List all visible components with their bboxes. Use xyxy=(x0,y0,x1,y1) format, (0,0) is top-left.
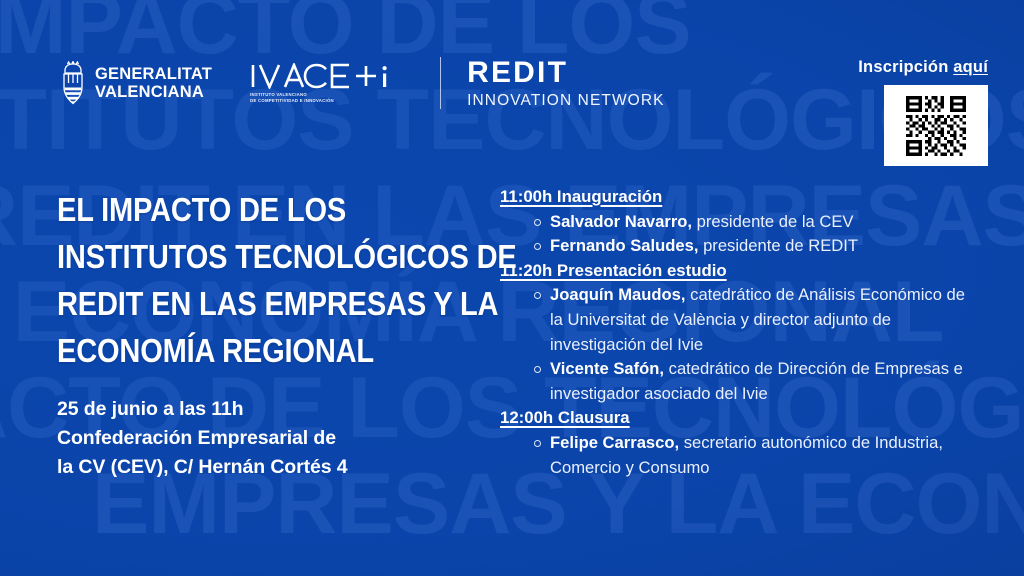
speaker-name: Fernando Saludes, xyxy=(550,236,698,255)
registration-block: Inscripción aquí xyxy=(858,58,988,166)
speaker-name: Salvador Navarro, xyxy=(550,212,692,231)
generalitat-valenciana-wordmark: GENERALITAT VALENCIANA xyxy=(95,65,212,102)
programme-speaker-item: Felipe Carrasco, secretario autonómico d… xyxy=(550,431,970,480)
inscription-label: Inscripción aquí xyxy=(858,58,988,77)
page-title-line-2: INSTITUTOS TECNOLÓGICOS DE xyxy=(57,233,409,280)
bullet-circle-icon xyxy=(534,366,541,373)
programme-speaker-item: Joaquín Maudos, catedrático de Análisis … xyxy=(550,283,970,357)
programme-speaker-item: Vicente Safón, catedrático de Dirección … xyxy=(550,357,970,406)
generalitat-line-2: VALENCIANA xyxy=(95,83,212,102)
page-title-line-3: REDIT EN LAS EMPRESAS Y LA xyxy=(57,280,409,327)
speaker-role: presidente de la CEV xyxy=(692,212,853,231)
programme-session-heading: 11:20h Presentación estudio xyxy=(500,259,970,284)
page-title-line-4: ECONOMÍA REGIONAL xyxy=(57,327,409,374)
page-title-line-1: EL IMPACTO DE LOS xyxy=(57,186,409,233)
ivace-subtitle-line-2: DE COMPETITIVIDAD E INNOVACIÓN xyxy=(250,98,400,103)
programme-session-heading: 11:00h Inauguración xyxy=(500,185,970,210)
ivace-subtitle: INSTITUTO VALENCIANO DE COMPETITIVIDAD E… xyxy=(250,92,400,103)
programme-speaker-list: Felipe Carrasco, secretario autonómico d… xyxy=(500,431,970,480)
redit-wordmark: REDIT xyxy=(467,57,664,88)
programme-session-heading: 12:00h Clausura xyxy=(500,406,970,431)
inscription-link[interactable]: aquí xyxy=(953,58,988,76)
registration-qr-code[interactable] xyxy=(884,85,988,166)
event-details-line-1: 25 de junio a las 11h xyxy=(57,395,457,424)
programme-speaker-list: Salvador Navarro, presidente de la CEVFe… xyxy=(500,210,970,259)
redit-logo: REDIT INNOVATION NETWORK xyxy=(467,57,664,109)
ivace-wordmark-icon xyxy=(250,63,400,89)
event-details-line-2: Confederación Empresarial de xyxy=(57,424,457,453)
bullet-circle-icon xyxy=(534,219,541,226)
page-title: EL IMPACTO DE LOSINSTITUTOS TECNOLÓGICOS… xyxy=(57,186,409,374)
event-details: 25 de junio a las 11hConfederación Empre… xyxy=(57,395,457,482)
event-poster: IMPACTO DE LOSSTITUTOS TECNOLÓGICOSREDIT… xyxy=(0,0,1024,576)
ivace-logo: INSTITUTO VALENCIANO DE COMPETITIVIDAD E… xyxy=(250,63,400,103)
speaker-role: presidente de REDIT xyxy=(698,236,858,255)
bullet-circle-icon xyxy=(534,440,541,447)
speaker-name: Felipe Carrasco, xyxy=(550,433,679,452)
qr-code-icon xyxy=(895,93,977,159)
bullet-circle-icon xyxy=(534,292,541,299)
speaker-name: Joaquín Maudos, xyxy=(550,285,686,304)
event-details-line-3: la CV (CEV), C/ Hernán Cortés 4 xyxy=(57,453,457,482)
generalitat-line-1: GENERALITAT xyxy=(95,65,212,84)
programme-list: 11:00h InauguraciónSalvador Navarro, pre… xyxy=(500,185,970,480)
bullet-circle-icon xyxy=(534,243,541,250)
generalitat-valenciana-shield-icon xyxy=(60,61,86,105)
programme-speaker-item: Salvador Navarro, presidente de la CEV xyxy=(550,210,970,235)
programme-speaker-item: Fernando Saludes, presidente de REDIT xyxy=(550,234,970,259)
logo-divider xyxy=(440,57,441,109)
logo-bar: GENERALITAT VALENCIANA xyxy=(60,55,665,111)
speaker-name: Vicente Safón, xyxy=(550,359,664,378)
generalitat-valenciana-logo: GENERALITAT VALENCIANA xyxy=(60,61,212,105)
inscription-text: Inscripción xyxy=(858,58,953,76)
programme-speaker-list: Joaquín Maudos, catedrático de Análisis … xyxy=(500,283,970,406)
redit-tagline: INNOVATION NETWORK xyxy=(467,92,664,109)
